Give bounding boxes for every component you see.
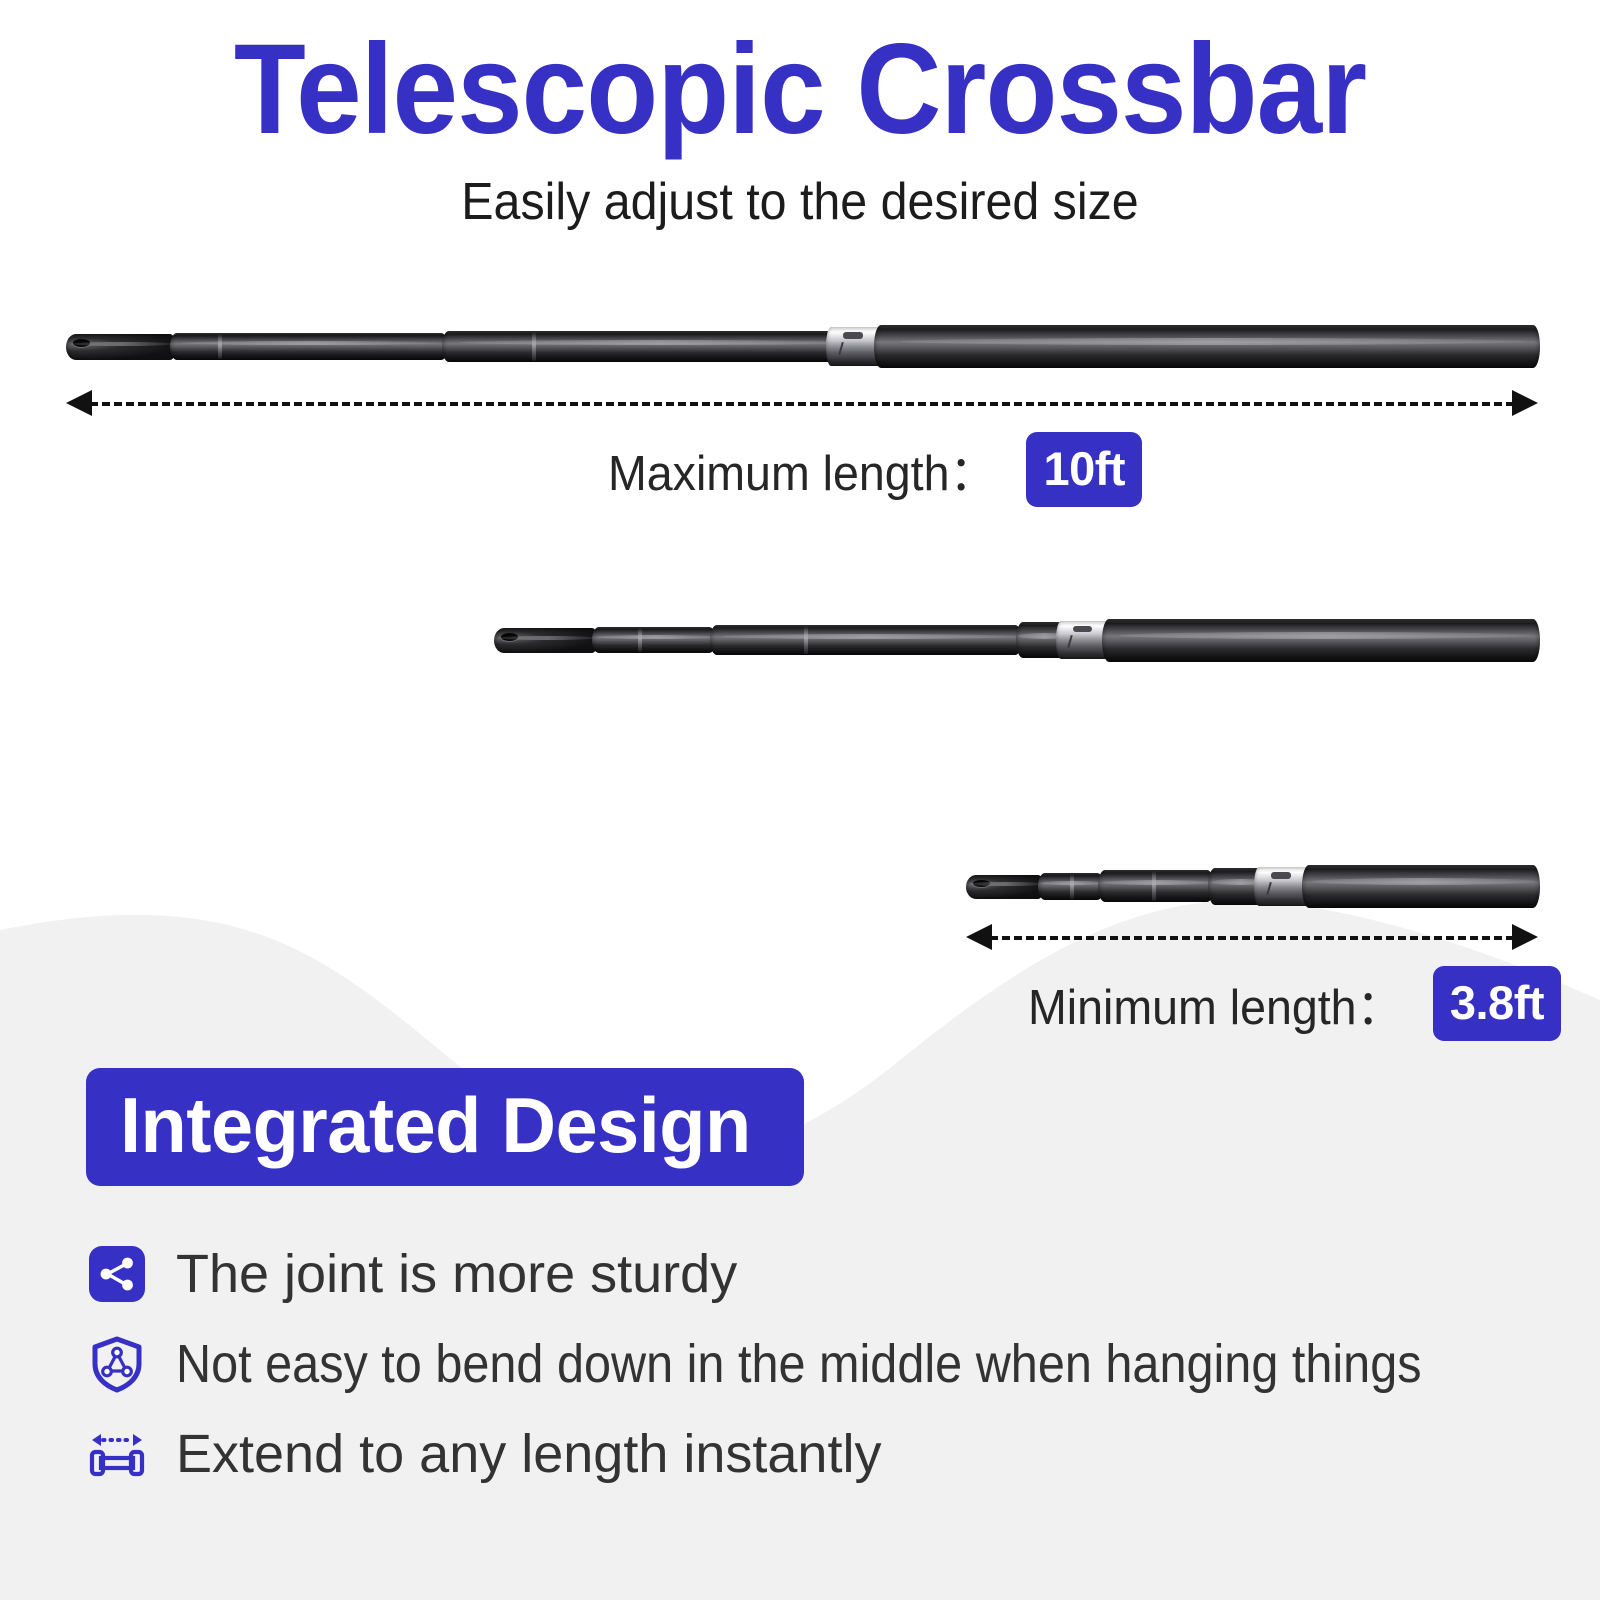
bar-end-cap xyxy=(966,875,1044,899)
bar-ring xyxy=(218,334,222,359)
arrow-head-left xyxy=(66,390,92,416)
bar-ring xyxy=(1070,874,1074,899)
extend-width-icon xyxy=(86,1423,148,1485)
max-length-badge: 10ft xyxy=(1026,432,1142,507)
collar-tick xyxy=(1266,882,1272,895)
bar-segment-4 xyxy=(1102,619,1540,662)
feature-list: The joint is more sturdy Not easy to ben… xyxy=(86,1243,1536,1513)
feature-label: Not easy to bend down in the middle when… xyxy=(176,1336,1422,1393)
bar-segment-4 xyxy=(874,325,1540,368)
arrow-head-right xyxy=(1512,390,1538,416)
feature-label: The joint is more sturdy xyxy=(176,1246,737,1303)
crossbar-partially-extended xyxy=(494,612,1540,668)
collar-tick xyxy=(1068,635,1073,648)
min-length-label: Minimum length： xyxy=(1028,968,1403,1039)
infographic-page: Telescopic Crossbar Easily adjust to the… xyxy=(0,0,1600,1600)
max-length-row: Maximum length： 10ft xyxy=(608,432,1142,507)
bar-segment-1 xyxy=(170,333,448,360)
max-length-dimension-arrow xyxy=(66,390,1538,416)
bar-ring xyxy=(532,332,536,361)
min-length-badge: 3.8ft xyxy=(1433,966,1561,1041)
bar-segment-2 xyxy=(710,625,1022,655)
bar-segment-1 xyxy=(592,627,716,653)
arrow-head-right xyxy=(1512,924,1538,950)
page-subtitle: Easily adjust to the desired size xyxy=(56,172,1544,232)
arrow-dashed-line xyxy=(90,402,1514,406)
bar-end-cap xyxy=(494,628,598,653)
feature-label: Extend to any length instantly xyxy=(176,1426,881,1483)
arrow-dashed-line xyxy=(990,936,1514,940)
bar-tip-hole xyxy=(501,633,518,641)
header: Telescopic Crossbar Easily adjust to the… xyxy=(0,0,1600,232)
collar-notch xyxy=(843,332,863,338)
collar-tick xyxy=(838,342,844,355)
bar-ring xyxy=(1152,871,1156,901)
collar-notch xyxy=(1271,872,1291,878)
feature-item: Not easy to bend down in the middle when… xyxy=(86,1333,1536,1395)
bar-segment-2 xyxy=(442,331,872,362)
share-nodes-icon xyxy=(86,1243,148,1305)
bar-ring xyxy=(804,626,808,654)
bar-segment-4 xyxy=(1302,865,1540,908)
max-length-label: Maximum length： xyxy=(608,434,996,505)
bar-segment-2 xyxy=(1098,870,1214,902)
bar-ring xyxy=(638,628,642,652)
integrated-design-title: Integrated Design xyxy=(120,1086,751,1164)
bar-tip-hole xyxy=(973,880,990,887)
crossbar-collapsed xyxy=(966,858,1540,914)
page-title: Telescopic Crossbar xyxy=(64,22,1536,158)
shield-nodes-icon xyxy=(86,1333,148,1395)
bar-tip-hole xyxy=(73,339,90,347)
bar-end-cap xyxy=(66,334,176,360)
min-length-dimension-arrow xyxy=(966,924,1538,950)
min-length-row: Minimum length： 3.8ft xyxy=(1028,966,1561,1041)
collar-notch xyxy=(1073,626,1092,632)
arrow-head-left xyxy=(966,924,992,950)
feature-item: Extend to any length instantly xyxy=(86,1423,1536,1485)
crossbar-fully-extended xyxy=(66,318,1540,374)
feature-item: The joint is more sturdy xyxy=(86,1243,1536,1305)
integrated-design-banner: Integrated Design xyxy=(86,1068,804,1186)
